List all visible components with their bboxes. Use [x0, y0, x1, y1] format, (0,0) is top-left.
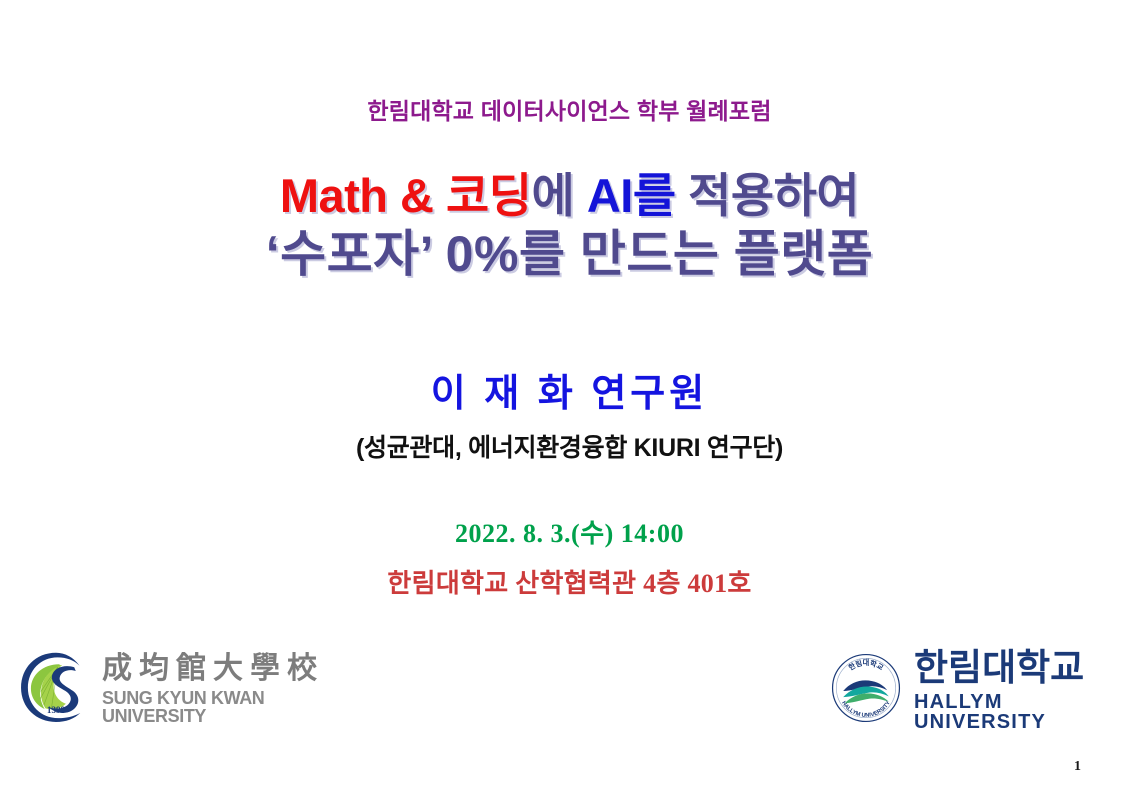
- main-title-block: Math & 코딩에 AI를 적용하여 ‘수포자’ 0%를 만드는 플랫폼: [0, 168, 1139, 284]
- speaker-affiliation: (성균관대, 에너지환경융합 KIURI 연구단): [0, 428, 1139, 464]
- title-segment-e: 에: [532, 169, 575, 222]
- title-line-2: ‘수포자’ 0%를 만드는 플랫폼: [0, 224, 1139, 284]
- hallym-wordmark: 한림대학교 HALLYM UNIVERSITY: [914, 649, 1128, 732]
- skku-hanja-name: 成均館大學校: [102, 654, 348, 684]
- presentation-slide: 한림대학교 데이터사이언스 학부 월례포럼 Math & 코딩에 AI를 적용하…: [0, 0, 1139, 785]
- skku-logo: 1398 成均館大學校 SUNG KYUN KWAN UNIVERSITY: [18, 648, 348, 730]
- hallym-english-name: HALLYM UNIVERSITY: [914, 692, 1128, 732]
- slide-page-number: 1: [1074, 759, 1081, 775]
- speaker-name: 이 재 화 연구원: [0, 362, 1139, 417]
- hallym-seal-icon: 한림대학교 HALLYM UNIVERSITY: [828, 650, 904, 731]
- hallym-korean-name: 한림대학교: [914, 649, 1128, 686]
- event-venue: 한림대학교 산학협력관 4층 401호: [0, 563, 1139, 600]
- skku-emblem-icon: 1398: [18, 649, 94, 730]
- skku-wordmark: 成均館大學校 SUNG KYUN KWAN UNIVERSITY: [102, 654, 348, 725]
- title-line-1: Math & 코딩에 AI를 적용하여: [0, 168, 1139, 224]
- skku-founding-year: 1398: [47, 704, 66, 714]
- title-segment-apply: 적용하여: [676, 169, 860, 222]
- hallym-logo: 한림대학교 HALLYM UNIVERSITY 한림대학교 HALLYM UNI…: [828, 648, 1128, 732]
- title-segment-math-coding: Math & 코딩: [280, 169, 532, 222]
- skku-english-name: SUNG KYUN KWAN UNIVERSITY: [102, 689, 348, 725]
- title-segment-ai: AI를: [574, 169, 675, 222]
- forum-subtitle: 한림대학교 데이터사이언스 학부 월례포럼: [0, 92, 1139, 126]
- event-datetime: 2022. 8. 3.(수) 14:00: [0, 513, 1139, 550]
